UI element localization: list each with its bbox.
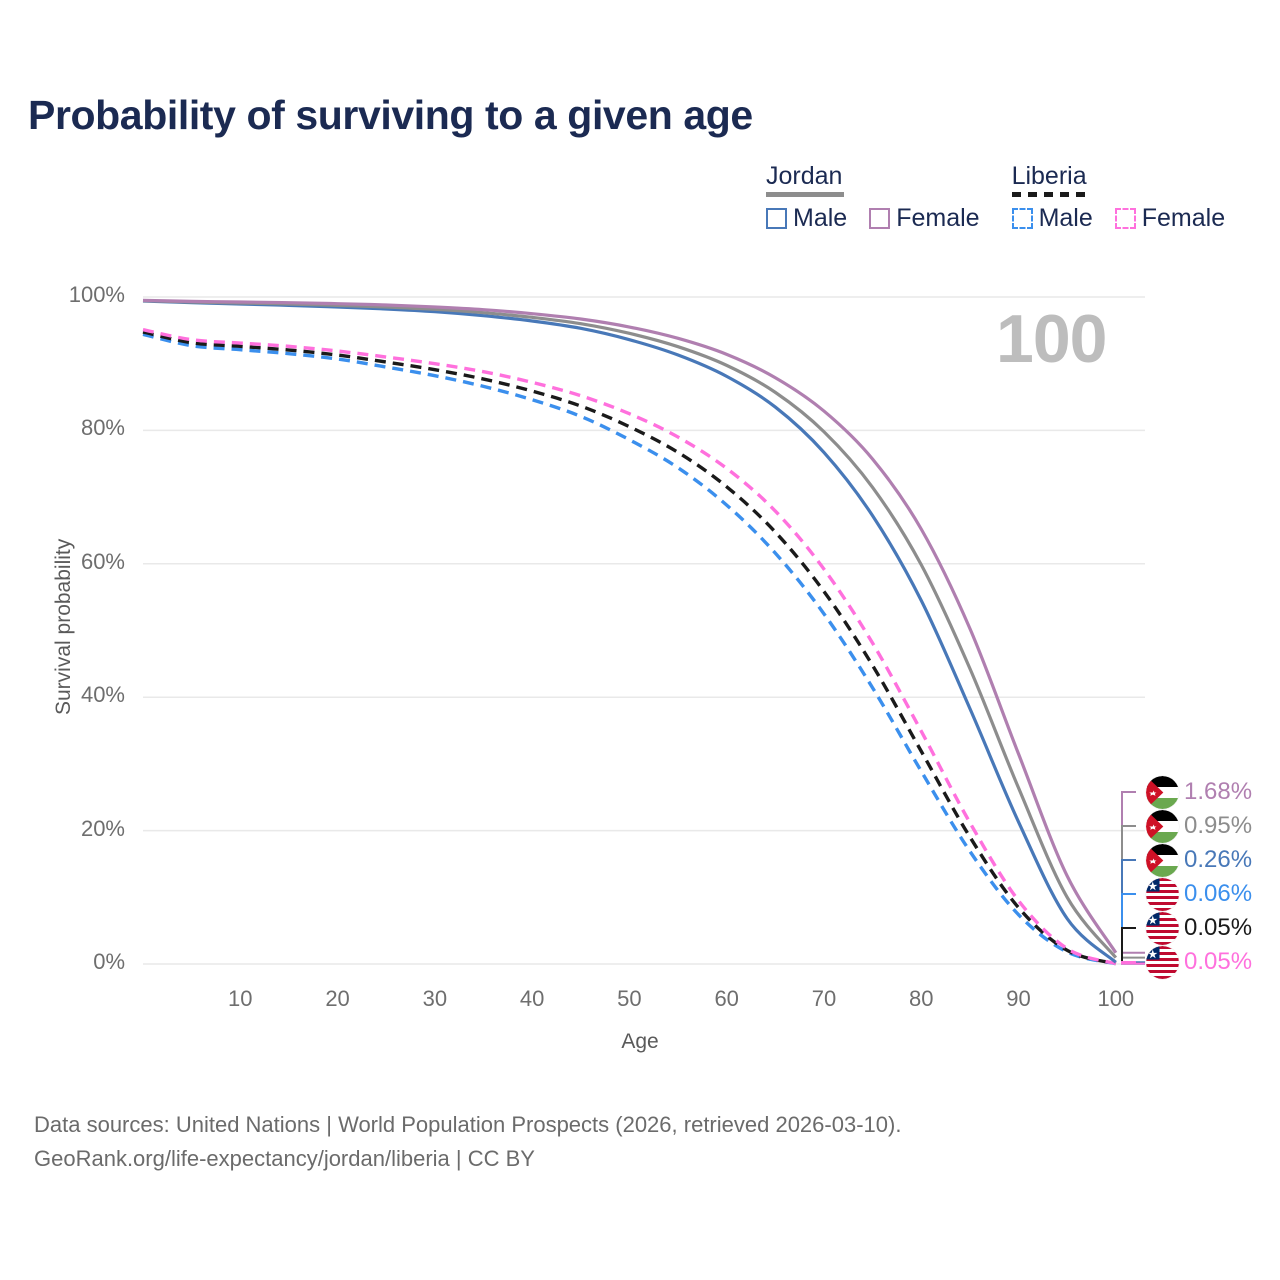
y-axis-title: Survival probability — [52, 539, 76, 715]
x-tick-label: 60 — [687, 986, 767, 1012]
series-end-label[interactable]: 0.26% — [1146, 843, 1252, 877]
y-tick-label: 20% — [10, 816, 125, 842]
jordan-flag-icon — [1146, 810, 1179, 843]
liberia-flag-icon — [1146, 946, 1179, 979]
series-end-label[interactable]: 0.06% — [1146, 877, 1252, 911]
series-end-value: 1.68% — [1184, 778, 1252, 806]
x-axis-title: Age — [0, 1030, 1280, 1054]
x-tick-label: 90 — [979, 986, 1059, 1012]
series-line[interactable] — [143, 334, 1116, 963]
series-end-value: 0.95% — [1184, 812, 1252, 840]
x-tick-label: 40 — [492, 986, 572, 1012]
leader-line — [1122, 860, 1145, 962]
leader-lines — [1122, 792, 1145, 964]
chart-watermark: 100 — [996, 300, 1106, 378]
series-end-value: 0.06% — [1184, 880, 1252, 908]
series-end-label[interactable]: 0.05% — [1146, 945, 1252, 979]
series-end-label[interactable]: 0.95% — [1146, 809, 1252, 843]
series-end-value: 0.26% — [1184, 846, 1252, 874]
x-tick-label: 80 — [881, 986, 961, 1012]
x-tick-label: 50 — [589, 986, 669, 1012]
footer-credits: Data sources: United Nations | World Pop… — [34, 1108, 901, 1176]
y-tick-label: 0% — [10, 949, 125, 975]
liberia-flag-icon — [1146, 878, 1179, 911]
y-tick-label: 100% — [10, 282, 125, 308]
jordan-flag-icon — [1146, 776, 1179, 809]
footer-line-2[interactable]: GeoRank.org/life-expectancy/jordan/liber… — [34, 1142, 901, 1176]
jordan-flag-icon — [1146, 844, 1179, 877]
series-end-value: 0.05% — [1184, 948, 1252, 976]
series-lines — [143, 300, 1116, 963]
x-tick-label: 10 — [200, 986, 280, 1012]
series-end-label[interactable]: 0.05% — [1146, 911, 1252, 945]
y-tick-label: 80% — [10, 415, 125, 441]
x-tick-label: 70 — [784, 986, 864, 1012]
series-line[interactable] — [143, 332, 1116, 964]
series-line[interactable] — [143, 330, 1116, 964]
footer-line-1: Data sources: United Nations | World Pop… — [34, 1108, 901, 1142]
x-tick-label: 100 — [1076, 986, 1156, 1012]
series-end-value: 0.05% — [1184, 914, 1252, 942]
plot-area: 100 100%80%60%40%20%0% 10203040506070809… — [0, 0, 1280, 1280]
leader-line — [1122, 826, 1145, 958]
liberia-flag-icon — [1146, 912, 1179, 945]
series-end-label[interactable]: 1.68% — [1146, 775, 1252, 809]
chart-canvas — [0, 0, 1280, 1280]
series-line[interactable] — [143, 300, 1116, 952]
x-tick-label: 20 — [298, 986, 378, 1012]
x-tick-label: 30 — [395, 986, 475, 1012]
chart-page: Probability of surviving to a given age … — [0, 0, 1280, 1280]
